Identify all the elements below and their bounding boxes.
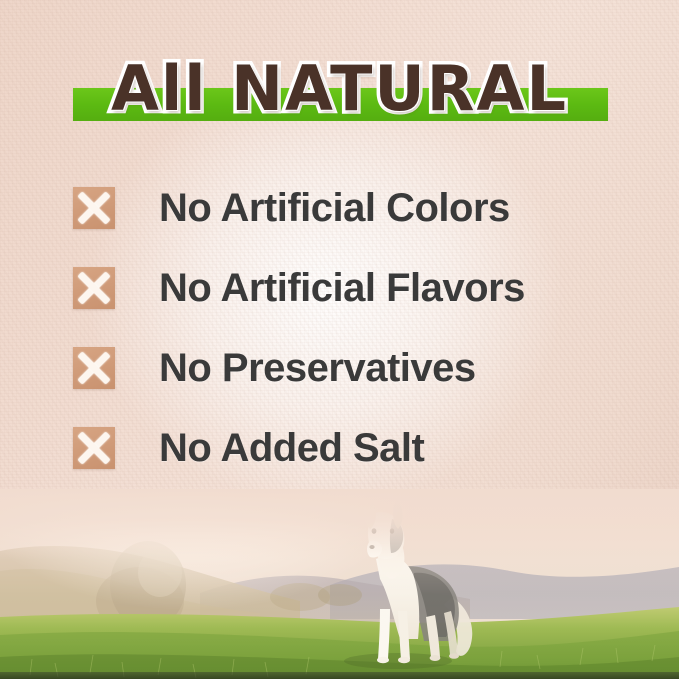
claim-label: No Artificial Colors	[159, 188, 510, 228]
list-item: No Artificial Flavors	[73, 248, 633, 328]
x-mark-icon	[73, 427, 115, 469]
x-mark-icon	[73, 187, 115, 229]
claim-label: No Artificial Flavors	[159, 268, 525, 308]
claim-label: No Added Salt	[159, 428, 424, 468]
hero-photo	[0, 489, 679, 679]
landscape-illustration	[0, 489, 679, 679]
product-claims-card: All NATURAL No Artificial Colors No Arti…	[0, 0, 679, 679]
title-banner: All NATURAL	[0, 50, 679, 136]
page-title: All NATURAL	[0, 50, 679, 128]
x-mark-icon	[73, 347, 115, 389]
claim-label: No Preservatives	[159, 348, 476, 388]
x-mark-icon	[73, 267, 115, 309]
claims-list: No Artificial Colors No Artificial Flavo…	[73, 168, 633, 488]
list-item: No Artificial Colors	[73, 168, 633, 248]
list-item: No Preservatives	[73, 328, 633, 408]
list-item: No Added Salt	[73, 408, 633, 488]
